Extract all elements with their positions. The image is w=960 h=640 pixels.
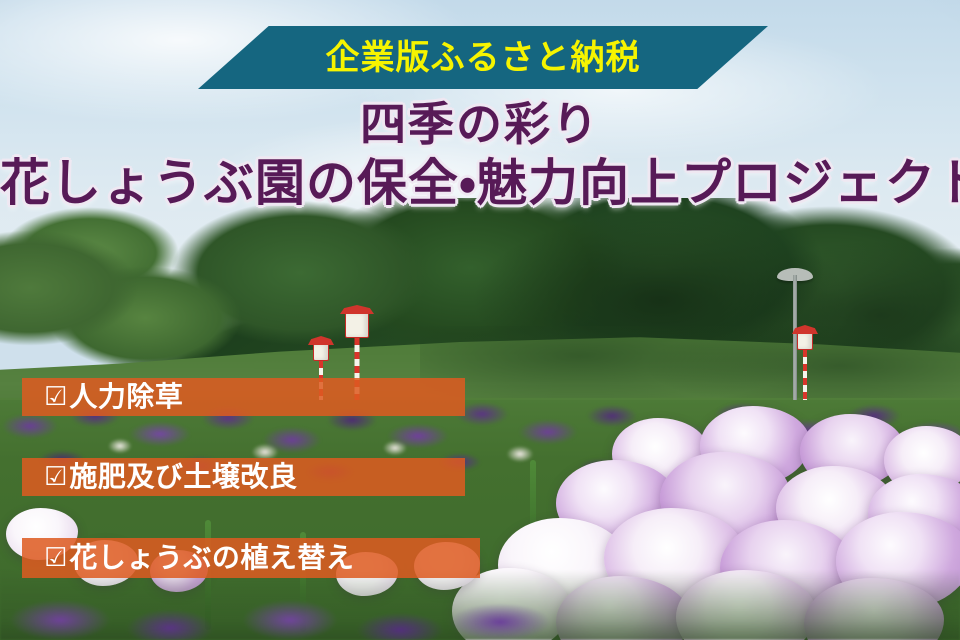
checkbox-checked-icon: ☑ — [44, 464, 67, 490]
feature-label: 花しょうぶの植え替え — [69, 544, 354, 572]
checkbox-checked-icon: ☑ — [44, 545, 67, 571]
poster: 企業版ふるさと納税 四季の彩り 花しょうぶ園の保全・魅力向上プロジェクト ☑ 人… — [0, 0, 960, 640]
feature-item-weeding: ☑ 人力除草 — [22, 378, 465, 416]
feature-list: ☑ 人力除草 ☑ 施肥及び土壌改良 ☑ 花しょうぶの植え替え — [0, 0, 960, 640]
feature-label: 人力除草 — [69, 383, 183, 411]
checkbox-checked-icon: ☑ — [44, 384, 67, 410]
feature-item-fertilizer-soil: ☑ 施肥及び土壌改良 — [22, 458, 465, 496]
feature-item-replanting: ☑ 花しょうぶの植え替え — [22, 538, 480, 578]
feature-label: 施肥及び土壌改良 — [69, 463, 297, 491]
